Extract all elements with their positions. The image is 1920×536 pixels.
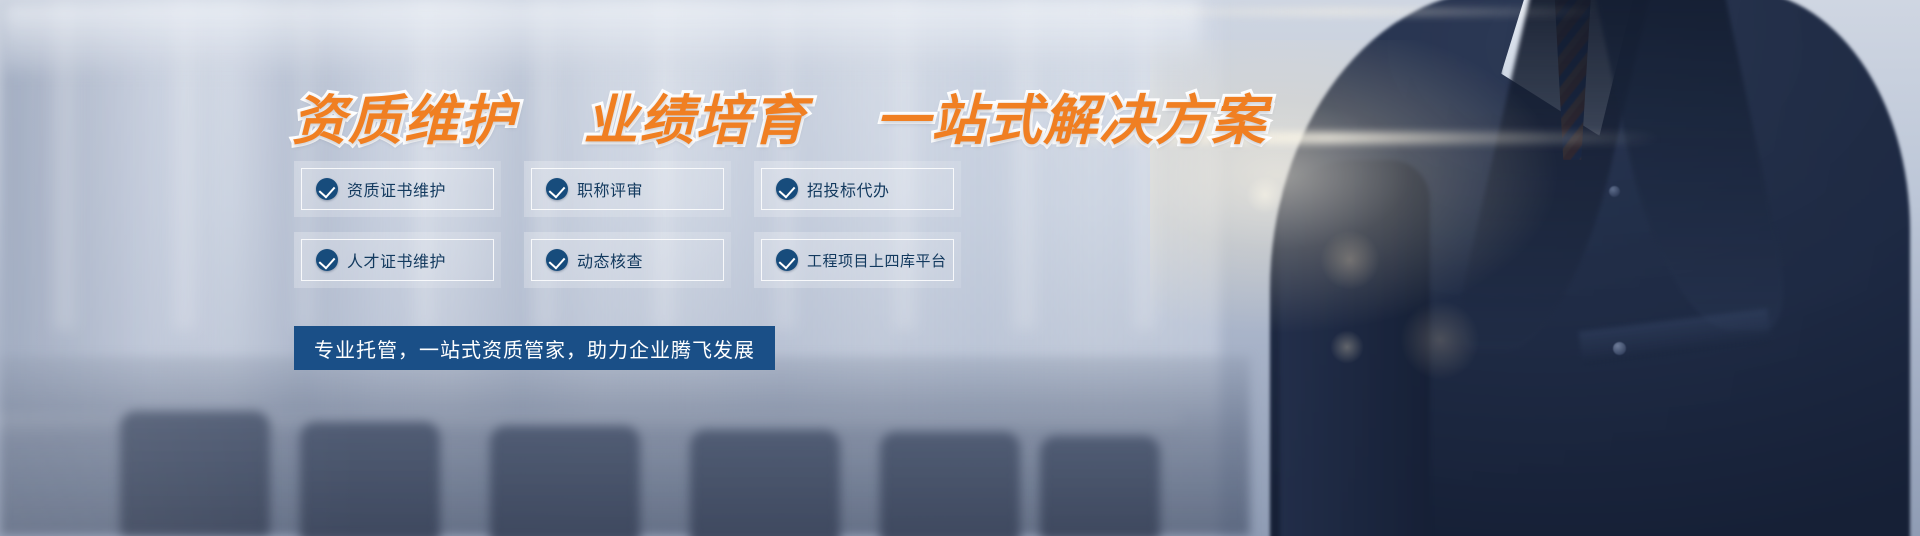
feature-card-inner: 职称评审 [531, 168, 724, 210]
feature-card-talent-certificate[interactable]: 人才证书维护 [294, 232, 501, 288]
feature-card-bidding-agency[interactable]: 招投标代办 [754, 161, 961, 217]
feature-label: 职称评审 [577, 177, 643, 201]
banner-content: 资质维护 业绩培育 一站式解决方案 资质证书维护 职称评审 [0, 0, 1920, 536]
check-circle-icon [776, 249, 798, 271]
feature-label: 人才证书维护 [347, 248, 446, 272]
feature-card-title-review[interactable]: 职称评审 [524, 161, 731, 217]
tagline-bar: 专业托管，一站式资质管家，助力企业腾飞发展 [294, 326, 775, 370]
feature-card-qualification-certificate[interactable]: 资质证书维护 [294, 161, 501, 217]
check-circle-icon [316, 249, 338, 271]
check-circle-icon [546, 178, 568, 200]
feature-card-four-database-platform[interactable]: 工程项目上四库平台 [754, 232, 961, 288]
feature-card-inner: 招投标代办 [761, 168, 954, 210]
tagline-text: 专业托管，一站式资质管家，助力企业腾飞发展 [314, 334, 755, 363]
check-circle-icon [316, 178, 338, 200]
promo-banner: 资质维护 业绩培育 一站式解决方案 资质证书维护 职称评审 [0, 0, 1920, 536]
feature-card-dynamic-inspection[interactable]: 动态核查 [524, 232, 731, 288]
headline-part-1: 资质维护 [292, 89, 516, 152]
feature-card-inner: 人才证书维护 [301, 239, 494, 281]
check-circle-icon [776, 178, 798, 200]
feature-label: 资质证书维护 [347, 177, 446, 201]
feature-card-inner: 工程项目上四库平台 [761, 239, 954, 281]
feature-grid: 资质证书维护 职称评审 招投标代办 人才证书维护 [294, 161, 961, 288]
feature-label: 动态核查 [577, 248, 643, 272]
check-circle-icon [546, 249, 568, 271]
headline-part-3: 一站式解决方案 [875, 89, 1267, 152]
feature-label: 工程项目上四库平台 [807, 250, 947, 271]
banner-headline: 资质维护 业绩培育 一站式解决方案 [292, 76, 1267, 155]
feature-label: 招投标代办 [807, 177, 890, 201]
feature-card-inner: 动态核查 [531, 239, 724, 281]
feature-card-inner: 资质证书维护 [301, 168, 494, 210]
headline-part-2: 业绩培育 [584, 89, 808, 152]
